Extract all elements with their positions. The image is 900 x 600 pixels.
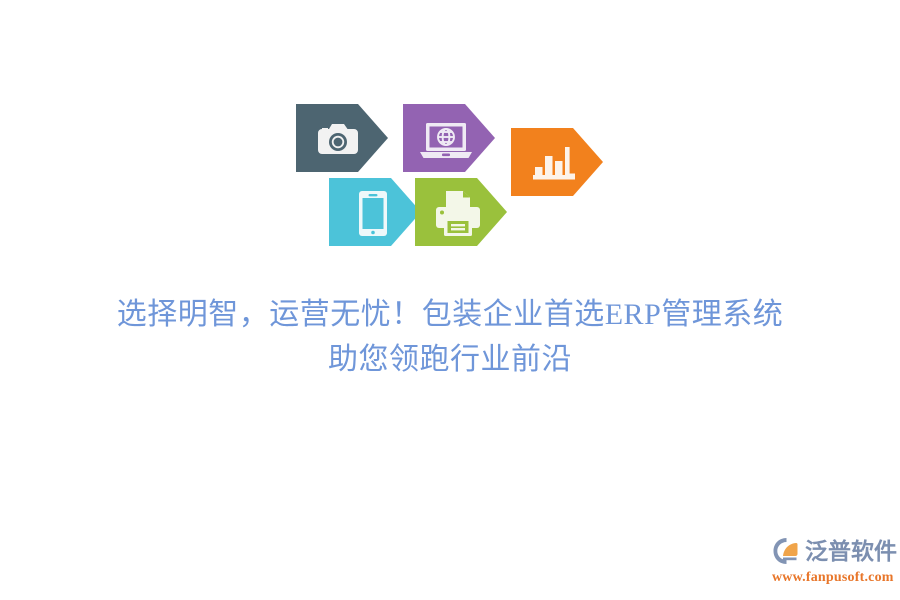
logo-name: 泛普软件 <box>805 536 897 566</box>
chevron-phone <box>329 178 421 246</box>
chevron-chart <box>511 128 603 196</box>
headline-line-2: 助您领跑行业前沿 <box>0 337 900 382</box>
chevron-printer <box>415 178 507 246</box>
logo-row: 泛普软件 <box>772 534 894 568</box>
headline: 选择明智，运营无忧！包装企业首选ERP管理系统 助您领跑行业前沿 <box>0 292 900 382</box>
logo-url: www.fanpusoft.com <box>772 569 894 587</box>
watermark-logo: 泛普软件 www.fanpusoft.com <box>772 534 894 590</box>
fanpu-logo-icon <box>772 536 802 566</box>
chevron-icon-cluster <box>0 0 900 260</box>
chevron-camera <box>296 104 388 172</box>
chevron-laptop <box>403 104 495 172</box>
laptop-globe-icon <box>420 123 472 158</box>
headline-line-1: 选择明智，运营无忧！包装企业首选ERP管理系统 <box>0 292 900 337</box>
smartphone-icon <box>359 191 387 236</box>
promo-banner: 选择明智，运营无忧！包装企业首选ERP管理系统 助您领跑行业前沿 泛普软件 ww… <box>0 0 900 600</box>
